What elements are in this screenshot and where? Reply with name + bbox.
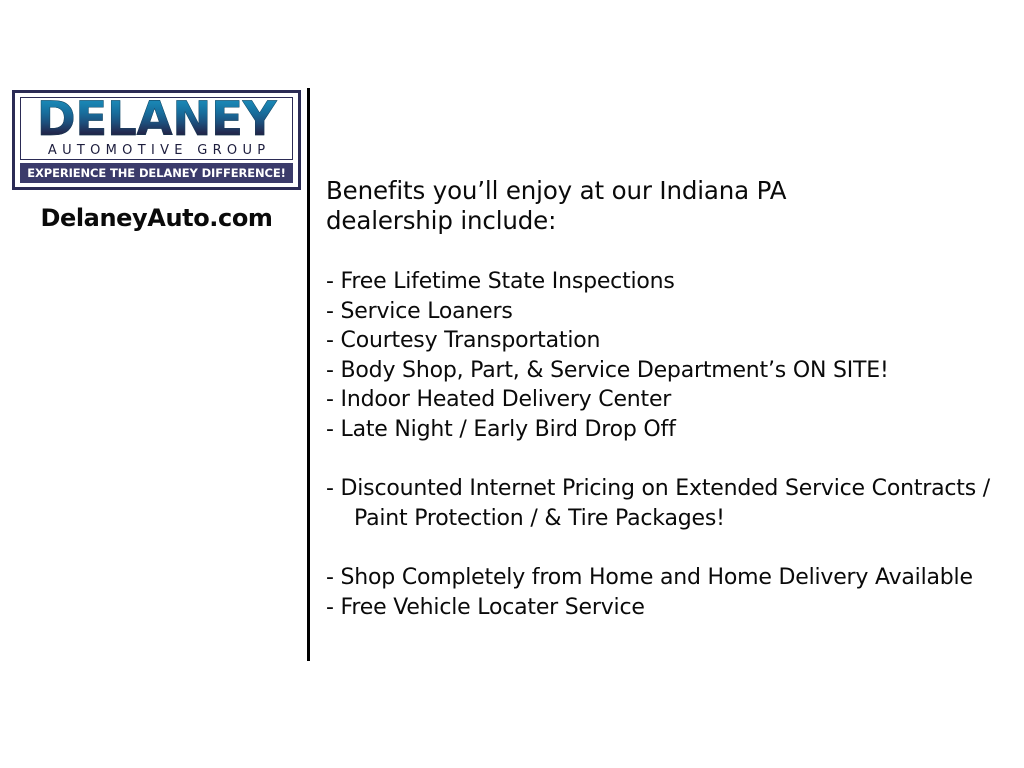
slide-canvas: DELANEY AUTOMOTIVE GROUP EXPERIENCE THE … xyxy=(0,0,1024,768)
list-item-text-continuation: Paint Protection / & Tire Packages! xyxy=(326,504,1012,534)
benefits-column: Benefits you’ll enjoy at our Indiana PA … xyxy=(326,176,1012,622)
list-item-text: - Body Shop, Part, & Service Department’… xyxy=(326,358,889,383)
logo-wordmark: DELANEY xyxy=(21,97,292,146)
benefits-list: - Free Lifetime State Inspections - Serv… xyxy=(326,267,1012,622)
list-item-text: - Late Night / Early Bird Drop Off xyxy=(326,417,676,442)
logo-slogan-banner: EXPERIENCE THE DELANEY DIFFERENCE! xyxy=(20,163,293,183)
list-item: - Service Loaners xyxy=(326,297,1012,327)
list-item-text: - Shop Completely from Home and Home Del… xyxy=(326,565,973,590)
website-url[interactable]: DelaneyAuto.com xyxy=(12,204,301,232)
delaney-automotive-group-logo: DELANEY AUTOMOTIVE GROUP EXPERIENCE THE … xyxy=(12,90,301,190)
list-item: - Shop Completely from Home and Home Del… xyxy=(326,563,1012,593)
list-item: - Late Night / Early Bird Drop Off xyxy=(326,415,1012,445)
list-item: - Free Vehicle Locater Service xyxy=(326,593,1012,623)
list-item-text: - Service Loaners xyxy=(326,299,513,324)
list-item: - Free Lifetime State Inspections xyxy=(326,267,1012,297)
logo-inner-frame: DELANEY AUTOMOTIVE GROUP xyxy=(20,97,293,160)
list-item-text: - Indoor Heated Delivery Center xyxy=(326,387,671,412)
list-item-text: - Courtesy Transportation xyxy=(326,328,600,353)
list-item: - Indoor Heated Delivery Center xyxy=(326,385,1012,415)
vertical-divider xyxy=(307,88,310,661)
list-item-text: - Free Vehicle Locater Service xyxy=(326,595,645,620)
brand-column: DELANEY AUTOMOTIVE GROUP EXPERIENCE THE … xyxy=(12,90,301,232)
logo-tagline: AUTOMOTIVE GROUP xyxy=(21,143,292,158)
page-title: Benefits you’ll enjoy at our Indiana PA … xyxy=(326,176,856,235)
list-item: - Body Shop, Part, & Service Department’… xyxy=(326,356,1012,386)
list-item-text: - Free Lifetime State Inspections xyxy=(326,269,675,294)
list-item: - Discounted Internet Pricing on Extende… xyxy=(326,445,1012,563)
list-item: - Courtesy Transportation xyxy=(326,326,1012,356)
list-item-text: - Discounted Internet Pricing on Extende… xyxy=(326,476,990,501)
